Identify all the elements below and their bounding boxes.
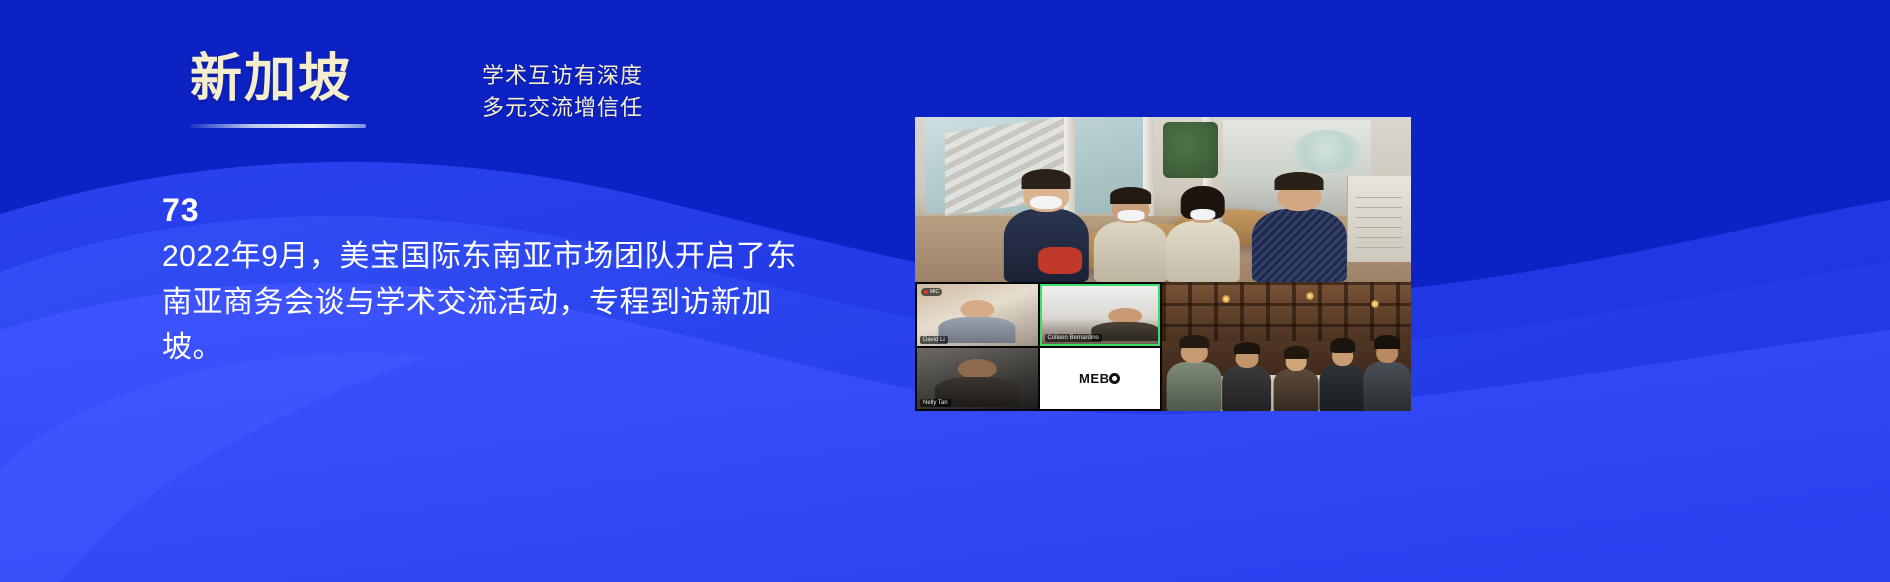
video-tile-label: David Li: [920, 336, 948, 344]
video-tile-label: Nelly Tan: [920, 399, 951, 407]
body-paragraph: 2022年9月，美宝国际东南亚市场团队开启了东南亚商务会谈与学术交流活动，专程到…: [162, 234, 802, 371]
body-column: 73 2022年9月，美宝国际东南亚市场团队开启了东南亚商务会谈与学术交流活动，…: [162, 193, 822, 371]
slide-canvas: 新加坡 学术互访有深度 多元交流增信任 73 2022年9月，美宝国际东南亚市场…: [0, 0, 1890, 582]
video-tile-mebo-logo: MEB: [1040, 348, 1161, 410]
item-number: 73: [162, 193, 822, 228]
subtitle-line-2: 多元交流增信任: [482, 92, 643, 124]
video-call-grid: MIC David Li Colleen Bernardino: [915, 282, 1162, 411]
photo-collage: MIC David Li Colleen Bernardino: [915, 117, 1411, 411]
subtitle-line-1: 学术互访有深度: [482, 60, 643, 92]
meeting-room-photo: [915, 117, 1411, 282]
restaurant-group-photo: [1162, 282, 1411, 411]
video-tile-2: Colleen Bernardino: [1040, 284, 1161, 346]
video-tile-label: Colleen Bernardino: [1045, 334, 1102, 342]
mebo-ring-icon: [1109, 373, 1120, 384]
title-block: 新加坡: [190, 52, 352, 107]
page-title: 新加坡: [190, 52, 352, 107]
video-tile-3: Nelly Tan: [917, 348, 1038, 410]
subtitle-block: 学术互访有深度 多元交流增信任: [482, 60, 643, 124]
title-underline: [190, 124, 366, 128]
mic-indicator-icon: MIC: [921, 288, 942, 296]
video-tile-1: MIC David Li: [917, 284, 1038, 346]
mebo-logo: MEB: [1079, 371, 1120, 386]
